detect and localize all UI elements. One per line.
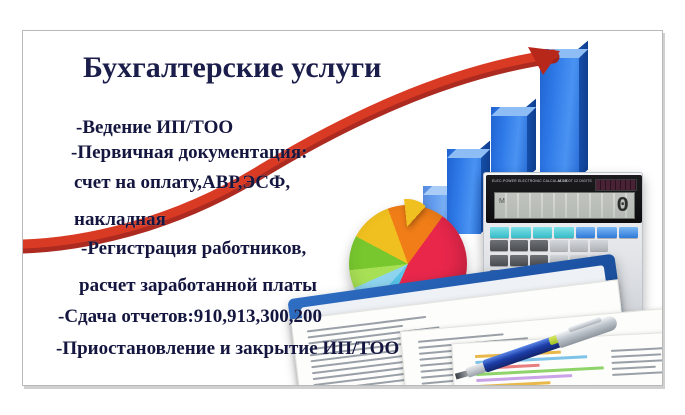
service-line-2: -Первичная документация: [71, 142, 307, 164]
service-line-4: накладная [74, 209, 166, 231]
poster-canvas: ELEC-POWER ELECTRONIC CALCULATOR M-1200T… [0, 0, 685, 415]
artwork-stage: ELEC-POWER ELECTRONIC CALCULATOR M-1200T… [23, 31, 662, 385]
service-line-5: -Регистрация работников, [81, 238, 306, 260]
page-title: Бухгалтерские услуги [83, 51, 381, 85]
service-line-1: -Ведение ИП/ТОО [76, 117, 233, 139]
service-line-8: -Приостановление и закрытие ИП/ТОО [56, 338, 399, 360]
service-line-6: расчет заработанной платы [79, 275, 317, 297]
text-block: Бухгалтерские услуги -Ведение ИП/ТОО -Пе… [23, 31, 662, 385]
service-line-3: счет на оплату,АВР,ЭСФ, [74, 172, 290, 194]
service-line-7: -Сдача отчетов:910,913,300,200 [58, 306, 322, 328]
